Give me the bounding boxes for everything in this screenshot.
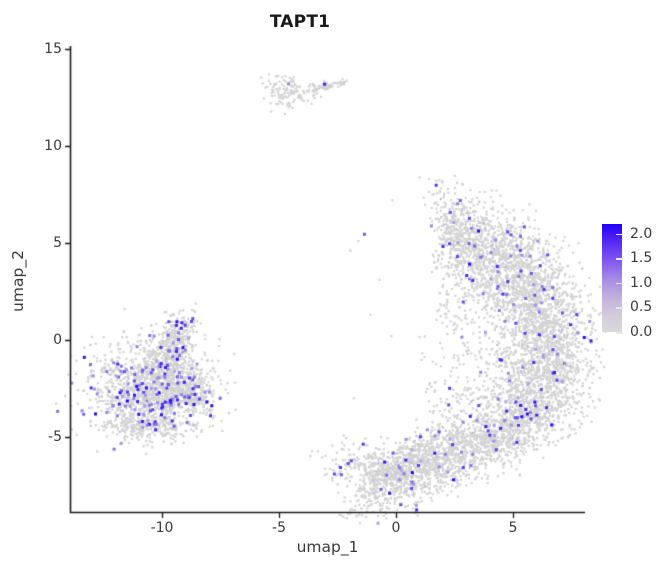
- y-tick-label: 15: [20, 41, 62, 57]
- colorbar-tick-label: 0.5: [630, 299, 652, 315]
- y-tick-label: 0: [20, 332, 62, 348]
- colorbar-legend: 2.01.51.00.50.0: [602, 224, 672, 336]
- colorbar-tick-mark: [616, 283, 623, 285]
- umap-scatter-plot: TAPT1 umap_1 umap_2 -10-505 -5051015 2.0…: [0, 0, 672, 576]
- scatter-canvas: [0, 0, 672, 576]
- colorbar-tick-mark: [616, 258, 623, 260]
- y-tick-label: 5: [20, 235, 62, 251]
- colorbar-tick-mark: [616, 307, 623, 309]
- colorbar-tick-mark: [616, 332, 623, 334]
- y-tick-label: -5: [20, 429, 62, 445]
- colorbar-tick-label: 1.5: [630, 250, 652, 266]
- y-axis-label: umap_2: [9, 211, 27, 351]
- x-tick-label: 5: [509, 520, 518, 536]
- x-tick-label: 0: [392, 520, 401, 536]
- x-tick-label: -10: [151, 520, 174, 536]
- colorbar-tick-label: 1.0: [630, 275, 652, 291]
- colorbar-tick-label: 0.0: [630, 324, 652, 340]
- y-tick-label: 10: [20, 138, 62, 154]
- x-axis-label: umap_1: [0, 538, 655, 556]
- x-tick-label: -5: [272, 520, 286, 536]
- colorbar-tick-mark: [616, 234, 623, 236]
- colorbar-gradient: [602, 224, 622, 332]
- colorbar-tick-label: 2.0: [630, 226, 652, 242]
